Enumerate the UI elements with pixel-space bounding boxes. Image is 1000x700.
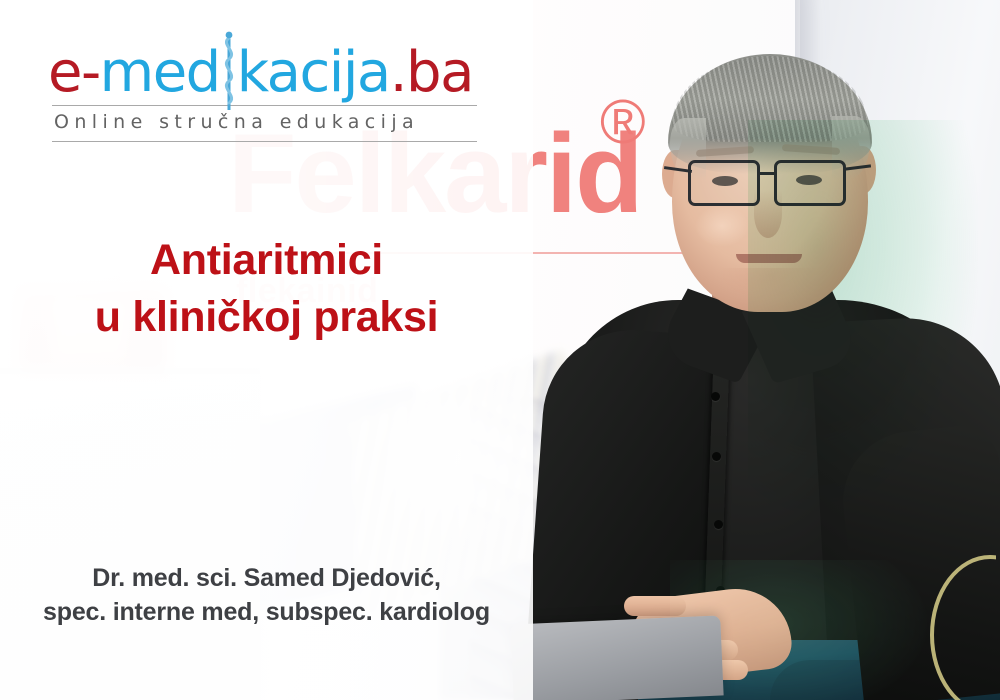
course-title-line1: Antiaritmici <box>150 236 383 284</box>
presenter-specialty: spec. interne med, subspec. kardiolog <box>0 596 533 630</box>
finger <box>624 596 686 616</box>
logo-dot: . <box>390 40 406 105</box>
promo-banner: Felkarid ® flekainid <box>0 0 1000 700</box>
eyeglasses-left-lens <box>688 160 760 206</box>
logo-tagline: Online stručna edukacija <box>48 106 478 138</box>
shirt-button <box>711 392 720 401</box>
presenter-name: Dr. med. sci. Samed Djedović, <box>92 564 441 592</box>
logo-wordmark: e-med kacija.ba <box>48 44 478 101</box>
logo-mid-before: med <box>100 40 220 105</box>
site-logo[interactable]: e-med kacija.ba Online stručna edukacija <box>48 44 478 142</box>
course-title: Antiaritmici u kliničkoj praksi <box>0 232 533 346</box>
eyeglasses-right-lens <box>774 160 846 206</box>
logo-tld: ba <box>406 40 473 105</box>
presenter-photo <box>520 0 1000 700</box>
logo-mid-after: kacija <box>237 40 390 105</box>
presenter-credentials: Dr. med. sci. Samed Djedović, spec. inte… <box>0 562 533 629</box>
course-title-line2: u kliničkoj praksi <box>0 289 533 346</box>
rod-of-asclepius-icon <box>220 44 237 100</box>
chin <box>716 268 826 308</box>
logo-divider-bottom <box>52 141 477 142</box>
eyeglasses-bridge <box>759 172 776 175</box>
shirt-button <box>714 520 723 529</box>
mouth <box>736 254 802 263</box>
laptop-foreground <box>510 615 723 700</box>
shirt-button <box>712 452 721 461</box>
cheek-highlight <box>695 205 749 247</box>
logo-prefix: e- <box>48 40 100 105</box>
